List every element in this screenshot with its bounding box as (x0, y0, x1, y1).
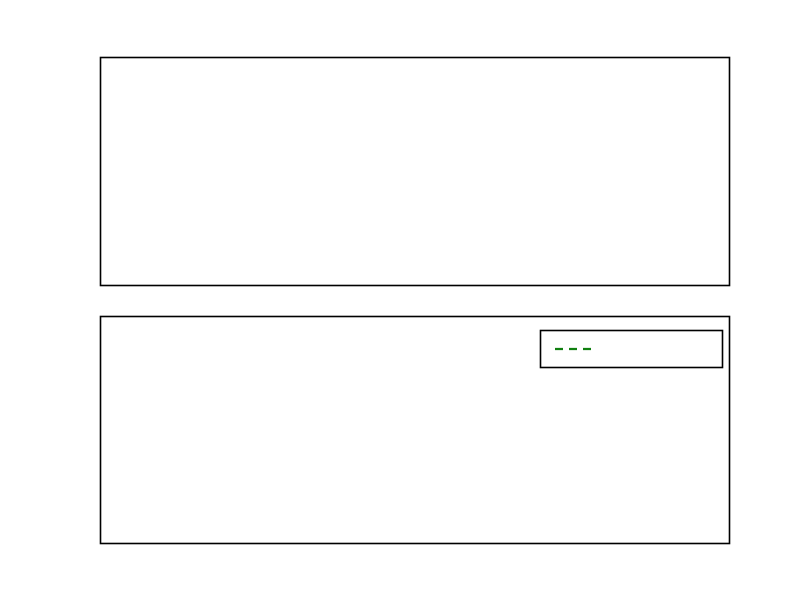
top-axes-frame (101, 58, 730, 286)
legend-frame (541, 331, 723, 368)
legend[interactable] (541, 331, 723, 368)
matplotlib-figure (0, 0, 800, 600)
bottom-axes (101, 317, 730, 544)
figure-canvas (0, 0, 800, 600)
top-axes (101, 58, 730, 286)
